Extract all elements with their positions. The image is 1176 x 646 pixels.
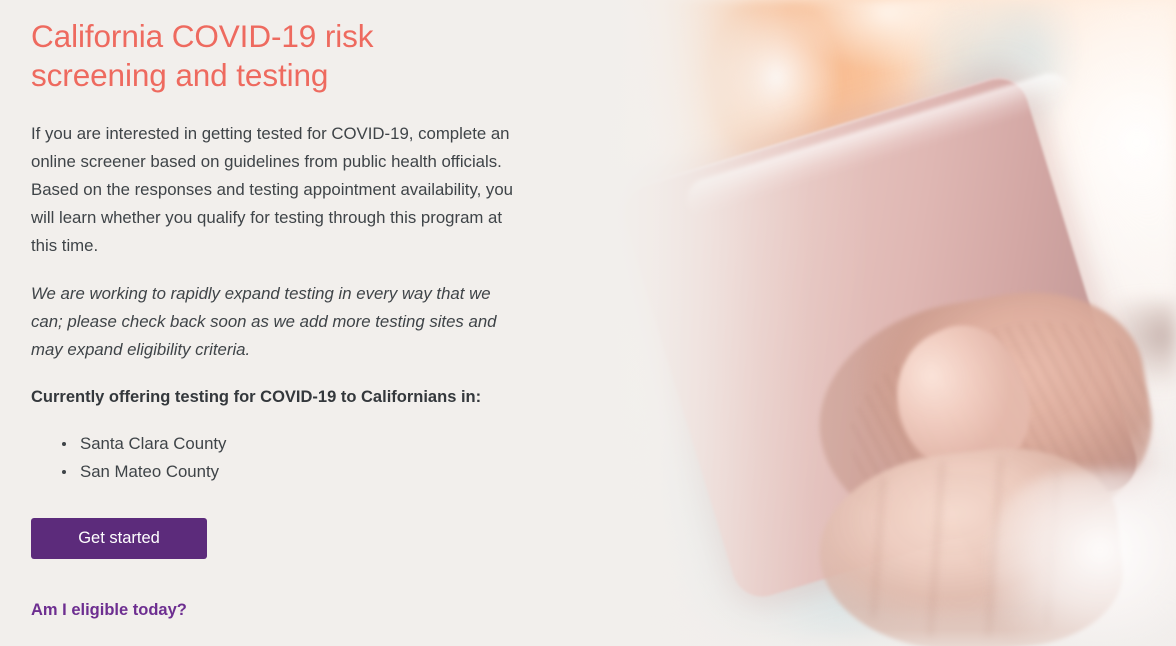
get-started-button[interactable]: Get started — [31, 518, 207, 559]
list-item: Santa Clara County — [80, 430, 226, 458]
photo-bottom-edge-fade — [520, 0, 1176, 646]
hero-page: California COVID-19 risk screening and t… — [0, 0, 1176, 646]
eligibility-link[interactable]: Am I eligible today? — [31, 600, 187, 620]
offering-heading: Currently offering testing for COVID-19 … — [31, 385, 541, 409]
hero-photo — [520, 0, 1176, 646]
page-title: California COVID-19 risk screening and t… — [31, 17, 461, 94]
expansion-note: We are working to rapidly expand testing… — [31, 280, 523, 364]
intro-paragraph: If you are interested in getting tested … — [31, 120, 531, 260]
list-item: San Mateo County — [80, 458, 226, 486]
hero-content: California COVID-19 risk screening and t… — [0, 0, 560, 646]
county-list: Santa Clara County San Mateo County — [31, 430, 226, 486]
